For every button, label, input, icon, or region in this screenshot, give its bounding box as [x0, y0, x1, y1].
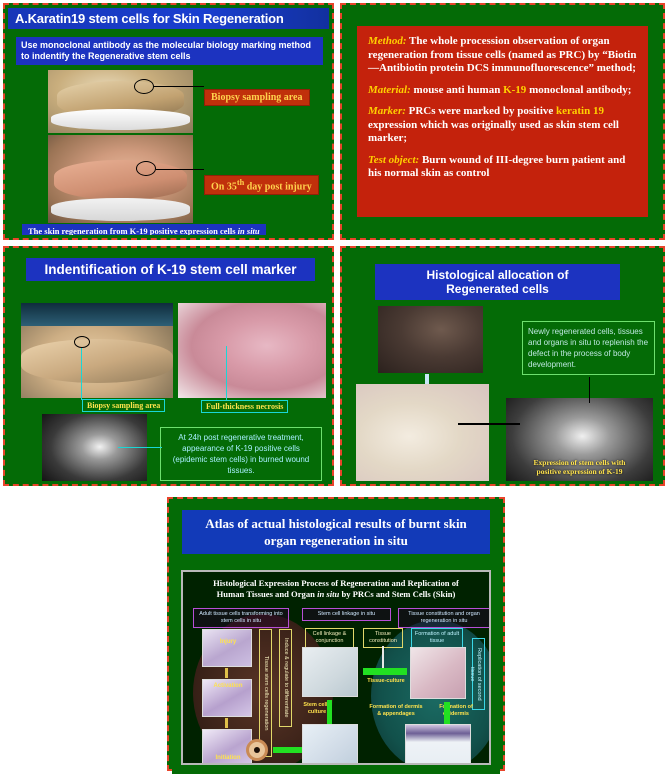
tag-tissue-constitution-box: Tissue constitution	[363, 628, 403, 648]
panel-identification: Indentification of K-19 stem cell marker…	[3, 246, 334, 486]
leader-line-c-note	[118, 447, 162, 448]
leader-line-c-biopsy	[81, 348, 82, 400]
panel-e-title: Atlas of actual histological results of …	[182, 510, 490, 554]
photo-hand-biopsy	[21, 303, 173, 398]
diagram-heading-2a: Human Tissues and Organ	[217, 589, 317, 599]
micrograph-injury	[202, 629, 252, 667]
panel-c-title: Indentification of K-19 stem cell marker	[26, 258, 315, 281]
poster-board: A.Karatin19 stem cells for Skin Regenera…	[0, 0, 668, 774]
panel-e-title-line1: Atlas of actual histological results of …	[190, 515, 482, 532]
arrow-up-stem-culture	[327, 700, 332, 724]
label-biopsy-sampling-area: Biopsy sampling area	[204, 89, 310, 106]
diagram-heading-2c: by PRCs and Stem Cells (Skin)	[339, 589, 455, 599]
label-formation-dermis: Formation of dermis & appendages	[367, 704, 425, 718]
photo-d-regenerated-tissue	[378, 306, 483, 373]
label-c-necrosis: Full-thickness necrosis	[201, 400, 288, 413]
diagram-heading-line2: Human Tissues and Organ in situ by PRCs …	[189, 589, 483, 600]
panel-histological-allocation: Histological allocation of Regenerated c…	[340, 246, 665, 486]
tag-formation-adult-tissue: Formation of adult tissue	[411, 628, 463, 648]
tag-cell-linkage-conjunction: Cell linkage & conjunction	[305, 628, 354, 648]
caption-text: The skin regeneration from K-19 positive…	[28, 226, 238, 235]
material-highlight: K-19	[503, 84, 526, 96]
panel-histological-allocation-inner: Histological allocation of Regenerated c…	[345, 251, 660, 481]
leader-line-necrosis	[226, 346, 227, 401]
micrograph-adult-tissue	[410, 647, 466, 699]
label-tissue-culture: Tissue-culture	[363, 678, 409, 685]
diagram-heading-line1: Histological Expression Process of Regen…	[189, 578, 483, 589]
testobject-paragraph: Test object: Burn wound of III-degree bu…	[368, 154, 637, 181]
atlas-diagram: Histological Expression Process of Regen…	[181, 570, 491, 765]
marker-body-2: expression which was originally used as …	[368, 119, 619, 145]
tag-stem-cell-linkage: Stem cell linkage in situ	[302, 608, 391, 621]
marker-circle-c-biopsy	[74, 336, 90, 348]
panel-e-title-line2: organ regeneration in situ	[190, 532, 482, 549]
label-day-rest: day post injury	[244, 181, 312, 192]
marker-circle-biopsy	[134, 79, 154, 94]
panel-atlas: Atlas of actual histological results of …	[167, 497, 505, 771]
method-paragraph: Method: The whole procession observation…	[368, 35, 637, 76]
leader-line-d-note-vertical	[589, 377, 590, 403]
method-keyword: Method:	[368, 35, 407, 47]
panel-a-title: A.Karatin19 stem cells for Skin Regenera…	[8, 8, 329, 29]
panel-identification-inner: Indentification of K-19 stem cell marker…	[8, 251, 329, 481]
arrow-injury-activation	[225, 668, 228, 678]
arrow-up-d	[425, 374, 429, 384]
marker-body-1: PRCs were marked by positive	[406, 105, 556, 117]
leader-line-d-section	[458, 423, 520, 425]
label-activation: Activation	[208, 680, 248, 692]
arrow-tissue-culture	[363, 668, 407, 675]
label-injury: Injury	[212, 636, 244, 648]
caption-skin-regeneration: The skin regeneration from K-19 positive…	[22, 224, 266, 235]
material-keyword: Material:	[368, 84, 411, 96]
caption-d-line1: Expression of stem cells with	[508, 458, 651, 467]
note-c-k19-positive: At 24h post regenerative treatment, appe…	[160, 427, 322, 481]
label-formation-epidermis: Formation of epidermis	[433, 704, 479, 718]
testobject-keyword: Test object:	[368, 154, 419, 166]
tag-tissue-constitution: Tissue constitution and organ regenerati…	[398, 608, 490, 628]
diagram-heading: Histological Expression Process of Regen…	[183, 572, 489, 603]
diagram-heading-2b: in situ	[317, 589, 339, 599]
caption-d-expression: Expression of stem cells with positive e…	[508, 458, 651, 476]
micrograph-cell-linkage	[302, 647, 358, 697]
panel-method: Method: The whole procession observation…	[340, 3, 665, 240]
note-d-newly-regenerated: Newly regenerated cells, tissues and org…	[522, 321, 655, 375]
panel-karatin19: A.Karatin19 stem cells for Skin Regenera…	[3, 3, 334, 240]
photo-limb-day0	[48, 70, 193, 133]
caption-italic: in situ	[238, 226, 260, 235]
method-text-box: Method: The whole procession observation…	[357, 26, 648, 217]
icon-tissue-stem-cells	[246, 739, 268, 761]
label-initiation: Initiation	[208, 752, 248, 764]
leader-line-day35	[156, 169, 204, 170]
panel-karatin19-inner: A.Karatin19 stem cells for Skin Regenera…	[8, 8, 329, 235]
panel-d-title-line1: Histological allocation of	[383, 268, 612, 282]
label-day-post-injury: On 35th day post injury	[204, 175, 319, 195]
tag-replication-second-tissue: Replication of second tissue	[472, 638, 485, 710]
material-paragraph: Material: mouse anti human K-19 monoclon…	[368, 84, 637, 98]
material-body-1: mouse anti human	[411, 84, 503, 96]
tag-tissue-stem-regeneration: Tissue stem cells regeneration	[259, 629, 272, 757]
panel-d-title-line2: Regenerated cells	[383, 282, 612, 296]
micrograph-various-stem-cells	[302, 724, 358, 765]
tag-adult-tissue-transform: Adult tissue cells transforming into ste…	[193, 608, 289, 628]
panel-atlas-inner: Atlas of actual histological results of …	[172, 510, 500, 774]
arrow-to-various-stem-cells	[273, 747, 305, 753]
marker-keyword: Marker:	[368, 105, 406, 117]
leader-line-biopsy	[154, 86, 204, 87]
marker-highlight: keratin 19	[556, 105, 604, 117]
micrograph-new-skin-organ	[405, 724, 471, 764]
marker-paragraph: Marker: PRCs were marked by positive ker…	[368, 105, 637, 146]
material-body-2: monoclonal antibody;	[526, 84, 631, 96]
method-body: The whole procession observation of orga…	[368, 35, 636, 74]
label-c-biopsy-area: Biopsy sampling area	[82, 399, 165, 412]
panel-method-inner: Method: The whole procession observation…	[345, 8, 660, 235]
photo-necrosis-histology	[178, 303, 326, 398]
photo-d-section	[356, 384, 489, 481]
marker-circle-day35	[136, 161, 156, 176]
panel-a-subtitle: Use monoclonal antibody as the molecular…	[16, 37, 323, 65]
tag-induce-regulate: Induce & regulate to differentiate	[279, 629, 292, 727]
photo-limb-day35	[48, 135, 193, 223]
label-day-prefix: On 35	[211, 181, 237, 192]
panel-d-title: Histological allocation of Regenerated c…	[375, 264, 620, 300]
arrow-activation-initiation	[225, 718, 228, 728]
caption-d-line2: positive expression of K-19	[508, 467, 651, 476]
